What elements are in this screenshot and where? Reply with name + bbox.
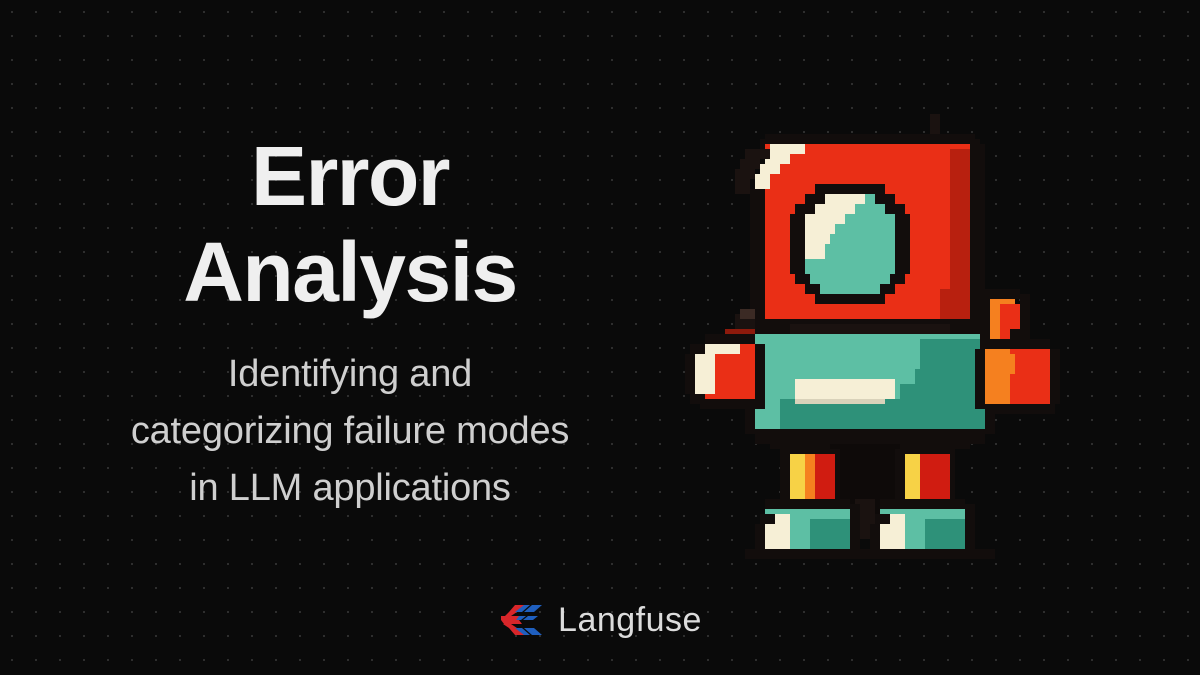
robot-right-arm: [975, 289, 1060, 414]
robot-left-arm: [685, 309, 765, 409]
page-title: Error Analysis: [0, 128, 700, 320]
langfuse-logo-svg: [498, 603, 544, 637]
langfuse-logo-icon: [498, 603, 544, 637]
robot-legs: [745, 444, 995, 559]
page-subtitle: Identifying and categorizing failure mod…: [0, 346, 700, 517]
slide-canvas: Error Analysis Identifying and categoriz…: [0, 0, 1200, 675]
headline-block: Error Analysis Identifying and categoriz…: [0, 128, 700, 517]
pixel-robot-illustration: [680, 108, 1070, 570]
robot-eye: [790, 184, 910, 304]
brand-name: Langfuse: [558, 603, 702, 637]
pixel-robot-svg: [680, 108, 1070, 570]
robot-torso: [745, 334, 995, 449]
brand-footer: Langfuse: [0, 603, 1200, 637]
